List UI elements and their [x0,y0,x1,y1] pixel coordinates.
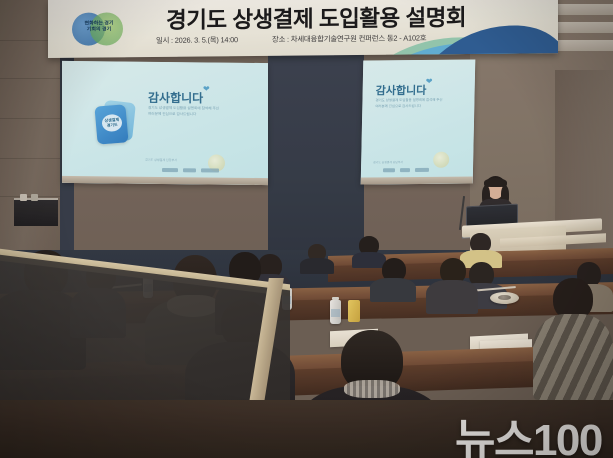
slide-footer-note: 경기도 상생결제 담당부서 [145,158,177,162]
heart-icon: ❤ [426,77,433,86]
banner-date: 일시 : 2026. 3. 5.(목) 14:00 [156,34,238,46]
audience-person [533,278,613,396]
audience-person [370,258,416,298]
slide-content-right: 감사합니다 ❤ 경기도 상생결제 도입활용 설명회에 참석해 주신 여러분께 진… [361,59,476,184]
microphone-base [490,292,519,304]
audience-person [426,258,478,310]
screen-frame [361,177,473,185]
banner-title: 경기도 상생결제 도입활용 설명회 [166,0,536,35]
juice-bottle [348,300,360,322]
seminar-photo: 변화하는 경기 기회의 경기 경기도 상생결제 도입활용 설명회 일시 : 20… [0,0,613,458]
heart-icon: ❤ [203,84,210,93]
slide-partner-logos [383,168,429,172]
water-bottle [330,300,341,324]
slide-headline: 감사합니다 [148,89,203,107]
event-banner: 변화하는 경기 기회의 경기 경기도 상생결제 도입활용 설명회 일시 : 20… [48,0,558,58]
slide-footer-note: 경기도 상생결제 담당부서 [373,160,403,164]
province-logo: 변화하는 경기 기회의 경기 [70,9,128,48]
slide-body-line-2: 여러분께 진심으로 감사드립니다 [148,112,238,119]
news-watermark: 뉴스100 [455,404,602,458]
projection-screen-left: 상생결제 경기도 감사합니다 ❤ 경기도 상생결제 도입활용 설명회에 참석해 … [62,61,268,185]
slide-partner-logos [162,168,219,173]
audience-person [300,244,334,268]
card-graphic: 상생결제 경기도 [96,99,138,147]
slide-content-left: 상생결제 경기도 감사합니다 ❤ 경기도 상생결제 도입활용 설명회에 참석해 … [62,61,268,185]
slide-body-line-2: 여러분께 진심으로 감사드립니다 [375,103,457,109]
banner-venue: 장소 : 차세대융합기술연구원 컨퍼런스 동2 - A102호 [272,32,426,44]
logo-line-2: 기회의 경기 [76,27,122,34]
slide-headline: 감사합니다 [376,82,427,98]
center-wall-panel [268,52,364,257]
wall-fixture [14,198,58,226]
official-seal [433,152,449,168]
projection-screen-right: 감사합니다 ❤ 경기도 상생결제 도입활용 설명회에 참석해 주신 여러분께 진… [361,59,476,184]
